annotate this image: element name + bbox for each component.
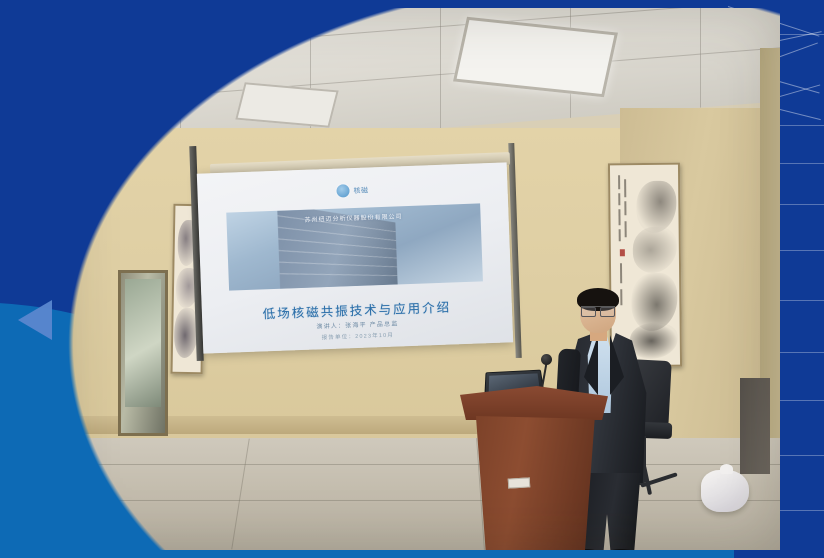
left-arrow-icon xyxy=(18,300,52,340)
plastic-bag xyxy=(701,470,749,512)
logo-mark-icon xyxy=(336,184,349,197)
plastic-bag-knot xyxy=(720,464,733,474)
podium xyxy=(460,386,608,550)
company-logo: 核磁 xyxy=(336,183,368,197)
ceiling-light xyxy=(235,82,338,127)
slide-building-photo: 苏州纽迈分析仪器股份有限公司 xyxy=(226,203,483,290)
presentation-photo: 核磁 苏州纽迈分析仪器股份有限公司 低场核磁共振技术与 xyxy=(60,8,780,550)
floor xyxy=(60,438,780,550)
podium-body xyxy=(468,416,600,550)
podium-top xyxy=(460,386,608,420)
slide-content: 核磁 苏州纽迈分析仪器股份有限公司 低场核磁共振技术与 xyxy=(197,162,513,353)
cabinet-glass xyxy=(125,279,161,407)
glasses-icon xyxy=(581,306,615,315)
wall-cabinet xyxy=(118,270,168,436)
slide-canvas: 核磁 苏州纽迈分析仪器股份有限公司 低场核磁共振技术与 xyxy=(0,0,824,558)
projection-screen: 核磁 苏州纽迈分析仪器股份有限公司 低场核磁共振技术与 xyxy=(197,162,513,353)
red-seal xyxy=(620,249,625,256)
logo-text: 核磁 xyxy=(353,185,368,196)
microphone-head-icon xyxy=(541,354,552,365)
floor-box xyxy=(740,378,770,474)
podium-plate xyxy=(508,477,530,488)
